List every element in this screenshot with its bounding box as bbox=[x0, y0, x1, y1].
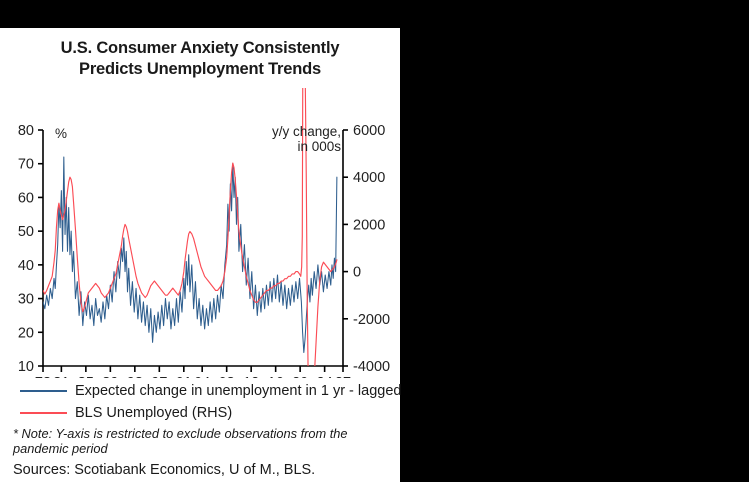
legend-swatch-red bbox=[20, 412, 67, 414]
y-axis-tick-label: 50 bbox=[18, 224, 34, 240]
y2-axis-tick-label: -2000 bbox=[353, 312, 390, 328]
x-axis-tick-label: 08 bbox=[219, 375, 235, 378]
y-axis-tick-label: 20 bbox=[18, 325, 34, 341]
x-axis-tick-label: 24 bbox=[317, 375, 333, 378]
chart-note: * Note: Y-axis is restricted to exclude … bbox=[13, 426, 398, 456]
x-axis-tick-label: 04 bbox=[194, 375, 210, 378]
x-axis-tick-label: 81 bbox=[53, 375, 69, 378]
legend-swatch-blue bbox=[20, 390, 67, 392]
title-line-2: Predicts Unemployment Trends bbox=[0, 59, 400, 80]
x-axis-tick-label: 78 bbox=[35, 375, 51, 378]
right-axis-unit-label-line2: in 000s bbox=[297, 139, 341, 154]
y-axis-tick-label: 60 bbox=[18, 190, 34, 206]
y2-axis-tick-label: -4000 bbox=[353, 359, 390, 375]
x-axis-tick-label: 01 bbox=[176, 375, 192, 378]
y2-axis-tick-label: 4000 bbox=[353, 170, 385, 186]
x-axis-tick-label: 93 bbox=[127, 375, 143, 378]
page-title: U.S. Consumer Anxiety Consistently Predi… bbox=[0, 38, 400, 80]
right-axis-unit-label-line1: y/y change, bbox=[272, 124, 341, 139]
chart-legend: Expected change in unemployment in 1 yr … bbox=[0, 380, 400, 424]
legend-item-bls-unemployed: BLS Unemployed (RHS) bbox=[0, 402, 400, 424]
chart-sources: Sources: Scotiabank Economics, U of M., … bbox=[13, 462, 398, 478]
title-line-1: U.S. Consumer Anxiety Consistently bbox=[0, 38, 400, 59]
y2-axis-tick-label: 6000 bbox=[353, 123, 385, 139]
series-line-expected-change bbox=[43, 157, 337, 353]
y2-axis-tick-label: 2000 bbox=[353, 217, 385, 233]
x-axis-tick-label: 89 bbox=[102, 375, 118, 378]
x-axis-tick-label: 97 bbox=[151, 375, 167, 378]
y-axis-tick-label: 70 bbox=[18, 157, 34, 173]
y-axis-tick-label: 80 bbox=[18, 123, 34, 139]
x-axis-tick-label: 20 bbox=[292, 375, 308, 378]
chart-tick-labels: 1020304050607080-4000-200002000400060007… bbox=[18, 123, 390, 378]
x-axis-tick-label: 12 bbox=[243, 375, 259, 378]
legend-label-expected-change: Expected change in unemployment in 1 yr … bbox=[75, 383, 401, 399]
chart-plot-area: 1020304050607080-4000-200002000400060007… bbox=[0, 88, 400, 378]
legend-label-bls-unemployed: BLS Unemployed (RHS) bbox=[75, 405, 232, 421]
y-axis-tick-label: 10 bbox=[18, 359, 34, 375]
x-axis-tick-label: 27 bbox=[335, 375, 351, 378]
chart-panel: U.S. Consumer Anxiety Consistently Predi… bbox=[0, 28, 400, 482]
y2-axis-tick-label: 0 bbox=[353, 265, 361, 281]
x-axis-tick-label: 85 bbox=[78, 375, 94, 378]
y-axis-tick-label: 40 bbox=[18, 258, 34, 274]
x-axis-tick-label: 16 bbox=[268, 375, 284, 378]
legend-item-expected-change: Expected change in unemployment in 1 yr … bbox=[0, 380, 400, 402]
line-chart-svg: 1020304050607080-4000-200002000400060007… bbox=[0, 88, 400, 378]
left-axis-unit-label: % bbox=[55, 126, 67, 141]
y-axis-tick-label: 30 bbox=[18, 292, 34, 308]
